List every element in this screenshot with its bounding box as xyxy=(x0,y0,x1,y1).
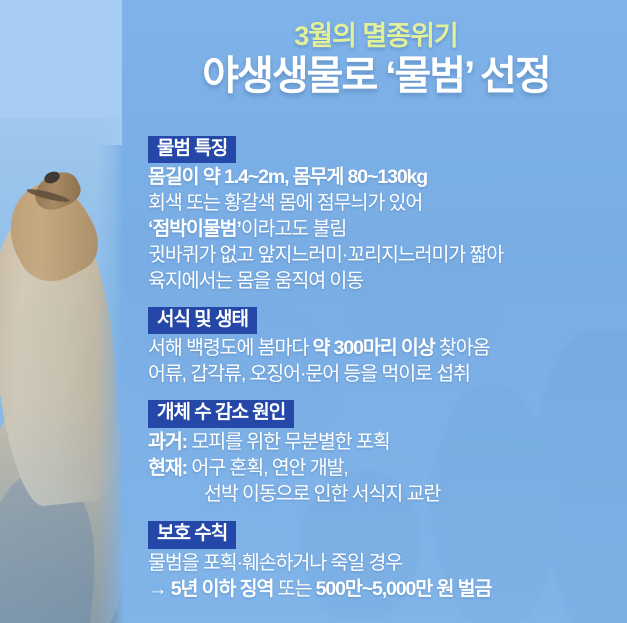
section-badge-features: 물범 특징 xyxy=(148,136,236,163)
text-run: 또는 xyxy=(278,578,312,600)
section-decline-causes: 개체 수 감소 원인 과거: 모피를 위한 무분별한 포획현재: 어구 혼획, … xyxy=(148,400,620,507)
sea-lion-photo xyxy=(0,118,124,623)
text-line: 어류, 갑각류, 오징어·문어 등을 먹이로 섭취 xyxy=(148,362,620,388)
text-run: 육지에서는 몸을 움직여 이동 xyxy=(148,270,363,292)
section-habitat: 서식 및 생태 서해 백령도에 봄마다 약 300마리 이상 찾아옴어류, 갑각… xyxy=(148,307,620,388)
section-badge-habitat: 서식 및 생태 xyxy=(148,307,257,334)
text-run: 이라고도 불림 xyxy=(241,218,346,240)
text-run-bold: 몸길이 약 1.4~2m, 몸무게 80~130kg xyxy=(148,166,427,188)
content-sections: 물범 특징 몸길이 약 1.4~2m, 몸무게 80~130kg회색 또는 황갈… xyxy=(148,136,620,603)
page-title: 야생생물로 ‘물범’ 선정 xyxy=(137,54,615,98)
text-run: 선박 이동으로 인한 서식지 교란 xyxy=(204,483,440,505)
text-run: 회색 또는 황갈색 몸에 점무늬가 있어 xyxy=(148,192,422,214)
text-run-bold: 현재: xyxy=(148,457,187,479)
text-run: 서해 백령도에 봄마다 xyxy=(148,337,313,359)
text-run: 모피를 위한 무분별한 포획 xyxy=(187,431,390,453)
title-kicker: 3월의 멸종위기 xyxy=(137,22,615,51)
text-run-bold: 과거: xyxy=(148,431,187,453)
section-lines-features: 몸길이 약 1.4~2m, 몸무게 80~130kg회색 또는 황갈색 몸에 점… xyxy=(148,165,620,295)
text-line: → 5년 이하 징역 또는 500만~5,000만 원 벌금 xyxy=(148,577,620,603)
section-lines-decline-causes: 과거: 모피를 위한 무분별한 포획현재: 어구 혼획, 연안 개발,선박 이동… xyxy=(148,430,620,508)
text-line: 회색 또는 황갈색 몸에 점무늬가 있어 xyxy=(148,191,620,217)
text-line: 물범을 포획·훼손하거나 죽일 경우 xyxy=(148,551,620,577)
photo-blue-tint xyxy=(0,118,124,623)
section-lines-protection-rules: 물범을 포획·훼손하거나 죽일 경우→ 5년 이하 징역 또는 500만~5,0… xyxy=(148,551,620,603)
poster-title-block: 3월의 멸종위기 야생생물로 ‘물범’ 선정 xyxy=(137,22,615,98)
section-lines-habitat: 서해 백령도에 봄마다 약 300마리 이상 찾아옴어류, 갑각류, 오징어·문… xyxy=(148,336,620,388)
text-line: 과거: 모피를 위한 무분별한 포획 xyxy=(148,430,620,456)
infographic-poster: 3월의 멸종위기 야생생물로 ‘물범’ 선정 물범 특징 몸길이 약 1.4~2… xyxy=(0,0,627,623)
text-run: 귓바퀴가 없고 앞지느러미·꼬리지느러미가 짧아 xyxy=(148,244,503,266)
text-line: 몸길이 약 1.4~2m, 몸무게 80~130kg xyxy=(148,165,620,191)
text-run-bold: → 5년 이하 징역 xyxy=(148,578,278,600)
text-line: 서해 백령도에 봄마다 약 300마리 이상 찾아옴 xyxy=(148,336,620,362)
text-run: 물범을 포획·훼손하거나 죽일 경우 xyxy=(148,552,402,574)
text-line: 현재: 어구 혼획, 연안 개발, xyxy=(148,456,620,482)
text-run: 어구 혼획, 연안 개발, xyxy=(187,457,348,479)
text-run-bold: 약 300마리 이상 xyxy=(313,337,435,359)
section-protection-rules: 보호 수칙 물범을 포획·훼손하거나 죽일 경우→ 5년 이하 징역 또는 50… xyxy=(148,521,620,602)
text-run-bold: ‘점박이물범’ xyxy=(148,218,241,240)
section-badge-decline-causes: 개체 수 감소 원인 xyxy=(148,400,294,427)
text-run: 어류, 갑각류, 오징어·문어 등을 먹이로 섭취 xyxy=(148,363,470,385)
text-line: ‘점박이물범’이라고도 불림 xyxy=(148,217,620,243)
text-line: 선박 이동으로 인한 서식지 교란 xyxy=(148,482,620,508)
text-line: 육지에서는 몸을 움직여 이동 xyxy=(148,269,620,295)
text-line: 귓바퀴가 없고 앞지느러미·꼬리지느러미가 짧아 xyxy=(148,243,620,269)
text-run: 찾아옴 xyxy=(435,337,490,359)
section-badge-protection-rules: 보호 수칙 xyxy=(148,521,236,548)
text-run-bold: 500만~5,000만 원 벌금 xyxy=(311,578,491,600)
section-features: 물범 특징 몸길이 약 1.4~2m, 몸무게 80~130kg회색 또는 황갈… xyxy=(148,136,620,295)
